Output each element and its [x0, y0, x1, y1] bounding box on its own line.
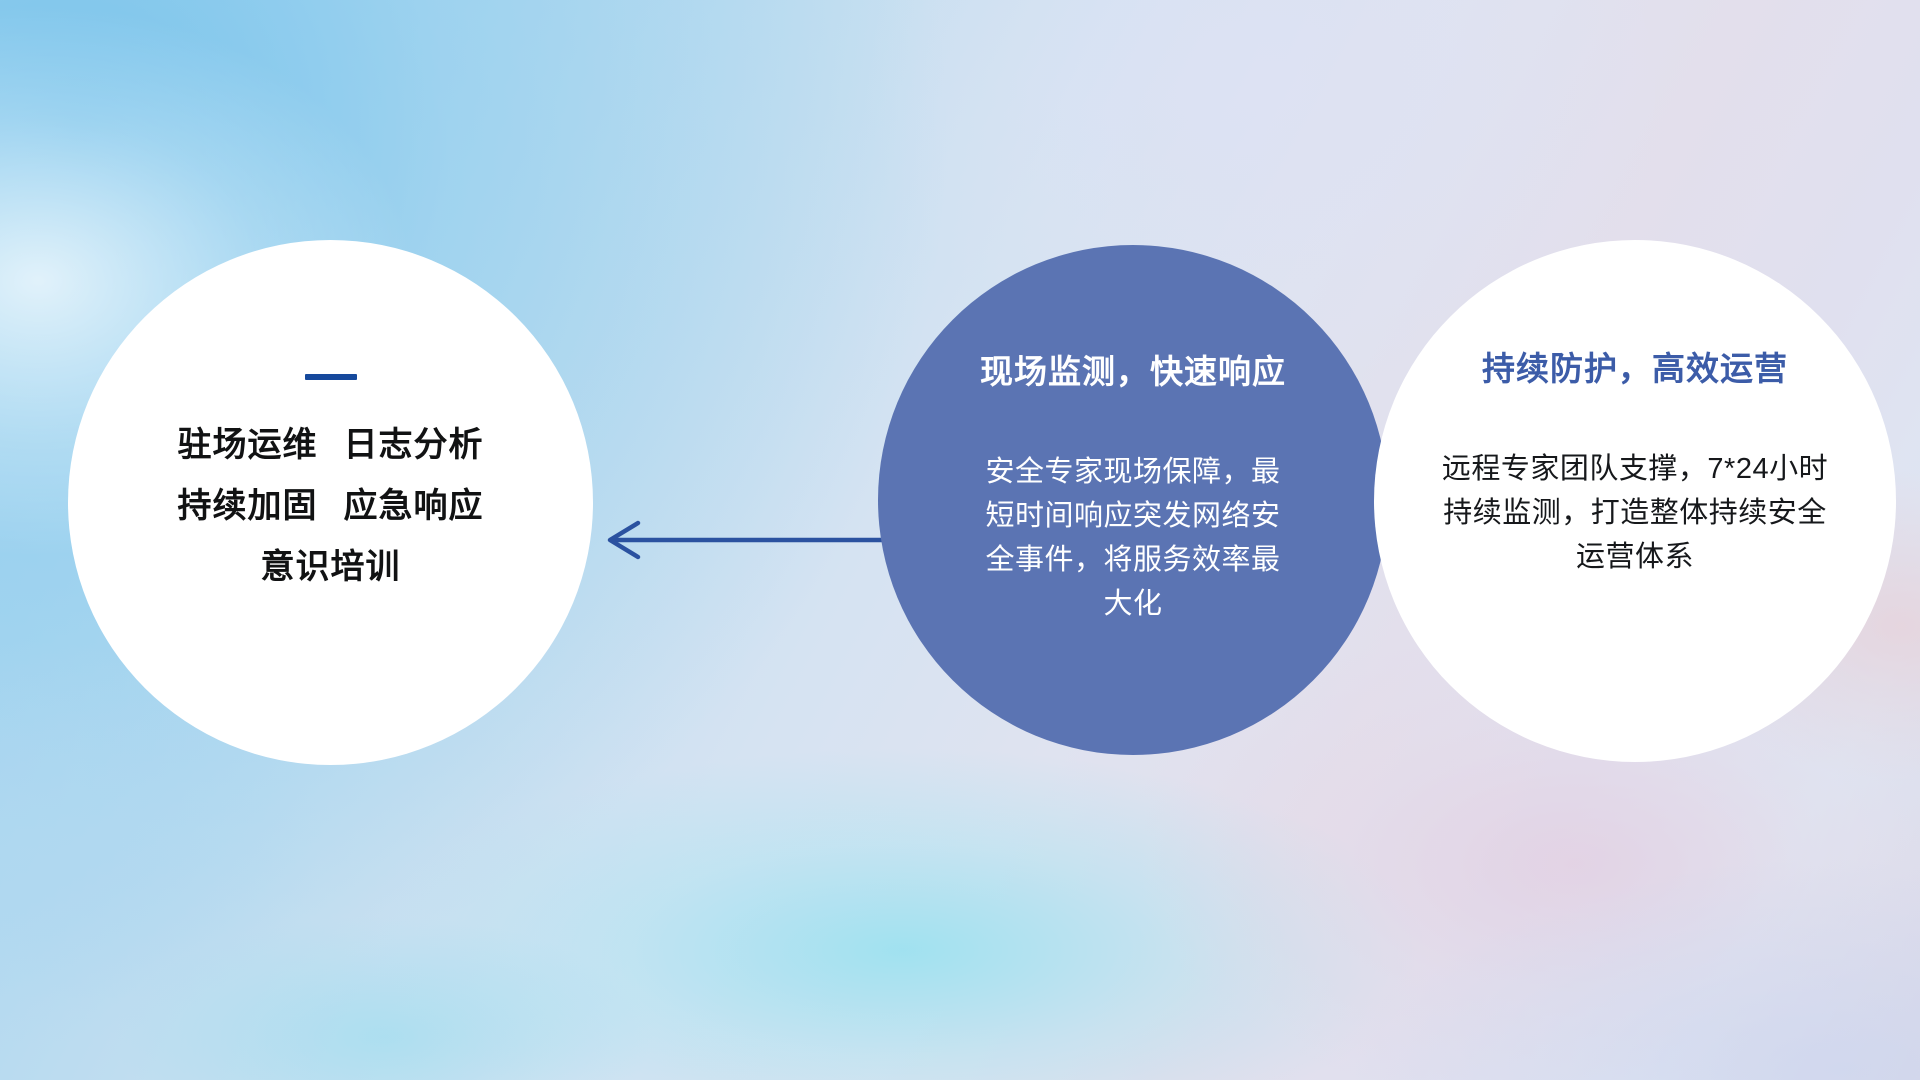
capability-label-zhuchangyunwei: 驻场运维: [178, 426, 318, 464]
slide-canvas: 驻场运维日志分析 持续加固应急响应 意识培训 现场监测，快速响应 安全专家现场保…: [0, 0, 1920, 1080]
continuous-protection-circle[interactable]: [1374, 240, 1896, 762]
capability-label-yingjixiangying: 应急响应: [344, 487, 484, 525]
flow-arrow: [600, 510, 900, 570]
capability-row-2: 持续加固应急响应: [178, 489, 484, 523]
capabilities-circle[interactable]: 驻场运维日志分析 持续加固应急响应 意识培训: [68, 240, 593, 765]
onsite-monitoring-circle[interactable]: [878, 245, 1388, 755]
divider-dash-icon: [305, 374, 357, 380]
capability-label-rizhifenxi: 日志分析: [344, 426, 484, 464]
capability-label-yishipeixun: 意识培训: [261, 548, 401, 586]
capability-row-3: 意识培训: [261, 550, 401, 584]
capability-row-1: 驻场运维日志分析: [178, 428, 484, 462]
capability-label-chixujiagu: 持续加固: [178, 487, 318, 525]
capability-list: 驻场运维日志分析 持续加固应急响应 意识培训: [178, 428, 484, 584]
